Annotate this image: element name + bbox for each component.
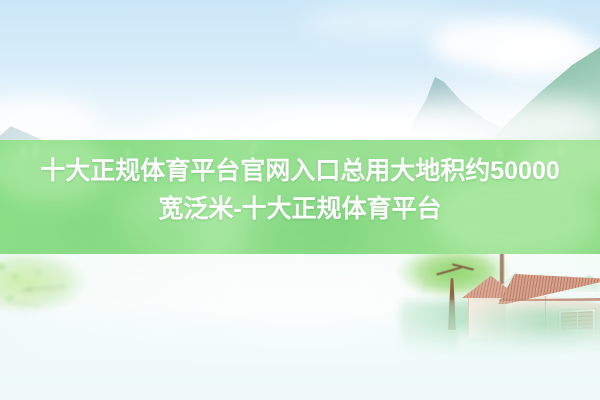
leaf-dot	[6, 296, 13, 302]
left-foliage-cluster	[0, 252, 120, 322]
headline-line-1: 十大正规体育平台官网入口总用大地积约50000	[0, 152, 600, 190]
headline: 十大正规体育平台官网入口总用大地积约50000 宽泛米-十大正规体育平台	[0, 152, 600, 228]
leaf-dot	[0, 264, 5, 270]
leaf-dot	[12, 274, 18, 279]
leaf-dot	[36, 270, 41, 275]
twig	[14, 302, 40, 307]
banner-image: 十大正规体育平台官网入口总用大地积约50000 宽泛米-十大正规体育平台	[0, 0, 600, 400]
headline-line-2: 宽泛米-十大正规体育平台	[0, 190, 600, 228]
